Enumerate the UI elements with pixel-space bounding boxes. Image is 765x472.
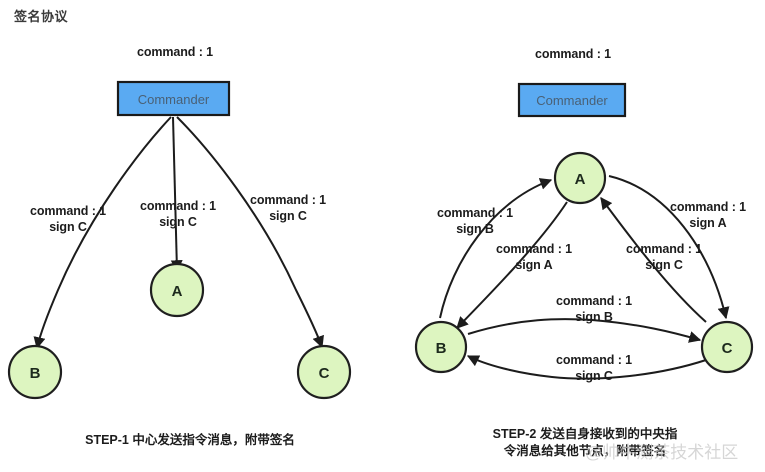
caption-line2: 令消息给其他节点，附带签名 — [435, 443, 735, 460]
node-a-right[interactable]: A — [555, 153, 605, 203]
edge-label-line2: sign A — [478, 257, 590, 273]
edge-label-line1: command : 1 — [250, 193, 326, 207]
top-label-left: command : 1 — [105, 44, 245, 60]
commander-label-left: Commander — [138, 92, 210, 107]
node-b-label-left: B — [30, 365, 41, 382]
edge-label-commander-to-b-left: command : 1 sign C — [8, 203, 128, 235]
node-b-right[interactable]: B — [416, 322, 466, 372]
node-c-right[interactable]: C — [702, 322, 752, 372]
caption-line1: STEP-1 中心发送指令消息，附带签名 — [85, 433, 295, 447]
node-a-label-right: A — [575, 171, 586, 188]
edge-label-line1: command : 1 — [556, 353, 632, 367]
edge-label-a-to-b-right: command : 1 sign A — [478, 241, 590, 273]
edge-label-line1: command : 1 — [496, 242, 572, 256]
edge-label-line1: command : 1 — [626, 242, 702, 256]
edge-label-b-to-a-right: command : 1 sign B — [415, 205, 535, 237]
commander-node-left[interactable]: Commander — [118, 82, 229, 115]
edge-label-line2: sign C — [118, 214, 238, 230]
node-a-label-left: A — [172, 283, 183, 300]
edge-label-line2: sign C — [524, 368, 664, 384]
edge-label-line1: command : 1 — [556, 294, 632, 308]
node-b-label-right: B — [436, 340, 447, 357]
edge-label-commander-to-a-left: command : 1 sign C — [118, 198, 238, 230]
edge-label-a-to-c-right: command : 1 sign C — [608, 241, 720, 273]
diagram-svg: Commander A B C — [0, 0, 765, 472]
edge-label-line2: sign C — [8, 219, 128, 235]
edge-label-c-to-a-right: command : 1 sign A — [651, 199, 765, 231]
edge-commander-to-a-left — [173, 117, 177, 271]
edge-label-line2: sign A — [651, 215, 765, 231]
diagram-step-1: Commander A B C — [9, 82, 350, 398]
edge-label-commander-to-c-left: command : 1 sign C — [228, 192, 348, 224]
edge-label-line2: sign C — [228, 208, 348, 224]
edge-label-c-to-b-right: command : 1 sign C — [524, 352, 664, 384]
node-c-label-left: C — [319, 365, 330, 382]
commander-label-right: Commander — [536, 93, 608, 108]
node-c-label-right: C — [722, 340, 733, 357]
caption-step-1: STEP-1 中心发送指令消息，附带签名 — [40, 432, 340, 449]
node-b-left[interactable]: B — [9, 346, 61, 398]
caption-step-2: STEP-2 发送自身接收到的中央指 令消息给其他节点，附带签名 — [435, 426, 735, 460]
edge-label-line2: sign B — [415, 221, 535, 237]
top-label-right: command : 1 — [503, 46, 643, 62]
edge-label-line2: sign C — [608, 257, 720, 273]
edge-label-b-to-c-right: command : 1 sign B — [524, 293, 664, 325]
edge-label-line2: sign B — [524, 309, 664, 325]
edge-label-line1: command : 1 — [30, 204, 106, 218]
node-c-left[interactable]: C — [298, 346, 350, 398]
edge-commander-to-c-left — [177, 117, 322, 347]
caption-line1: STEP-2 发送自身接收到的中央指 — [493, 427, 678, 441]
diagram-canvas: 签名协议 Commander A — [0, 0, 765, 472]
commander-node-right[interactable]: Commander — [519, 84, 625, 116]
edge-label-line1: command : 1 — [140, 199, 216, 213]
edge-label-line1: command : 1 — [437, 206, 513, 220]
node-a-left[interactable]: A — [151, 264, 203, 316]
edge-label-line1: command : 1 — [670, 200, 746, 214]
